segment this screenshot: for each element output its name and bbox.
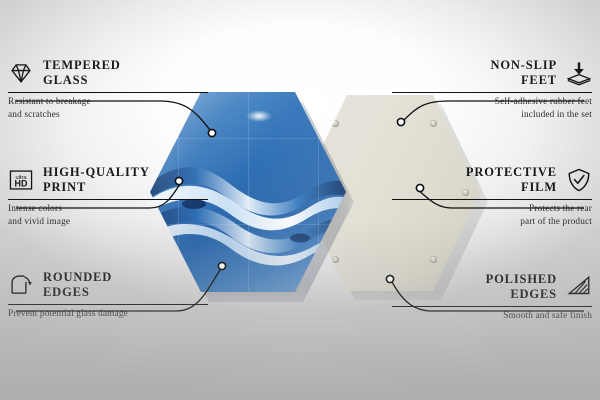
divider: [8, 92, 208, 93]
feature-header: NON-SLIP FEET: [392, 58, 592, 89]
feature-title: PROTECTIVE FILM: [466, 165, 557, 196]
feature-non-slip-feet: NON-SLIP FEET Self-adhesive rubber feet …: [392, 58, 592, 122]
feature-header: POLISHED EDGES: [392, 272, 592, 303]
feature-title: TEMPERED GLASS: [43, 58, 121, 89]
feature-protective-film: PROTECTIVE FILM Protects the rear part o…: [392, 165, 592, 229]
feature-description: Protects the rear part of the product: [392, 203, 592, 229]
feature-header: PROTECTIVE FILM: [392, 165, 592, 196]
divider: [392, 92, 592, 93]
shield-check-icon: [566, 167, 592, 193]
divider: [8, 199, 208, 200]
diamond-icon: [8, 60, 34, 86]
feature-title: NON-SLIP FEET: [490, 58, 557, 89]
divider: [8, 304, 208, 305]
feature-description: Resistant to breakage and scratches: [8, 96, 208, 122]
feature-polished-edges: POLISHED EDGES Smooth and safe finish: [392, 272, 592, 323]
divider: [392, 306, 592, 307]
divider: [392, 199, 592, 200]
hatched-edge-icon: [566, 274, 592, 300]
feature-header: ultra HD HIGH-QUALITY PRINT: [8, 165, 208, 196]
connector-dot-rounded-edges: [218, 262, 225, 269]
infographic-canvas: TEMPERED GLASS Resistant to breakage and…: [0, 0, 600, 400]
connector-dot-tempered-glass: [208, 129, 215, 136]
feature-title: POLISHED EDGES: [486, 272, 557, 303]
press-down-pad-icon: [566, 60, 592, 86]
rounded-corner-icon: [8, 272, 34, 298]
feature-description: Smooth and safe finish: [392, 310, 592, 323]
feature-description: Self-adhesive rubber feet included in th…: [392, 96, 592, 122]
feature-title: HIGH-QUALITY PRINT: [43, 165, 150, 196]
feature-title: ROUNDED EDGES: [43, 270, 112, 301]
ultra-hd-icon: ultra HD: [8, 167, 34, 193]
feature-header: ROUNDED EDGES: [8, 270, 208, 301]
feature-tempered-glass: TEMPERED GLASS Resistant to breakage and…: [8, 58, 208, 122]
feature-description: Prevent potential glass damage: [8, 308, 208, 321]
feature-rounded-edges: ROUNDED EDGES Prevent potential glass da…: [8, 270, 208, 321]
feature-high-quality-print: ultra HD HIGH-QUALITY PRINT Intense colo…: [8, 165, 208, 229]
feature-header: TEMPERED GLASS: [8, 58, 208, 89]
feature-description: Intense colors and vivid image: [8, 203, 208, 229]
svg-text:HD: HD: [15, 179, 28, 189]
